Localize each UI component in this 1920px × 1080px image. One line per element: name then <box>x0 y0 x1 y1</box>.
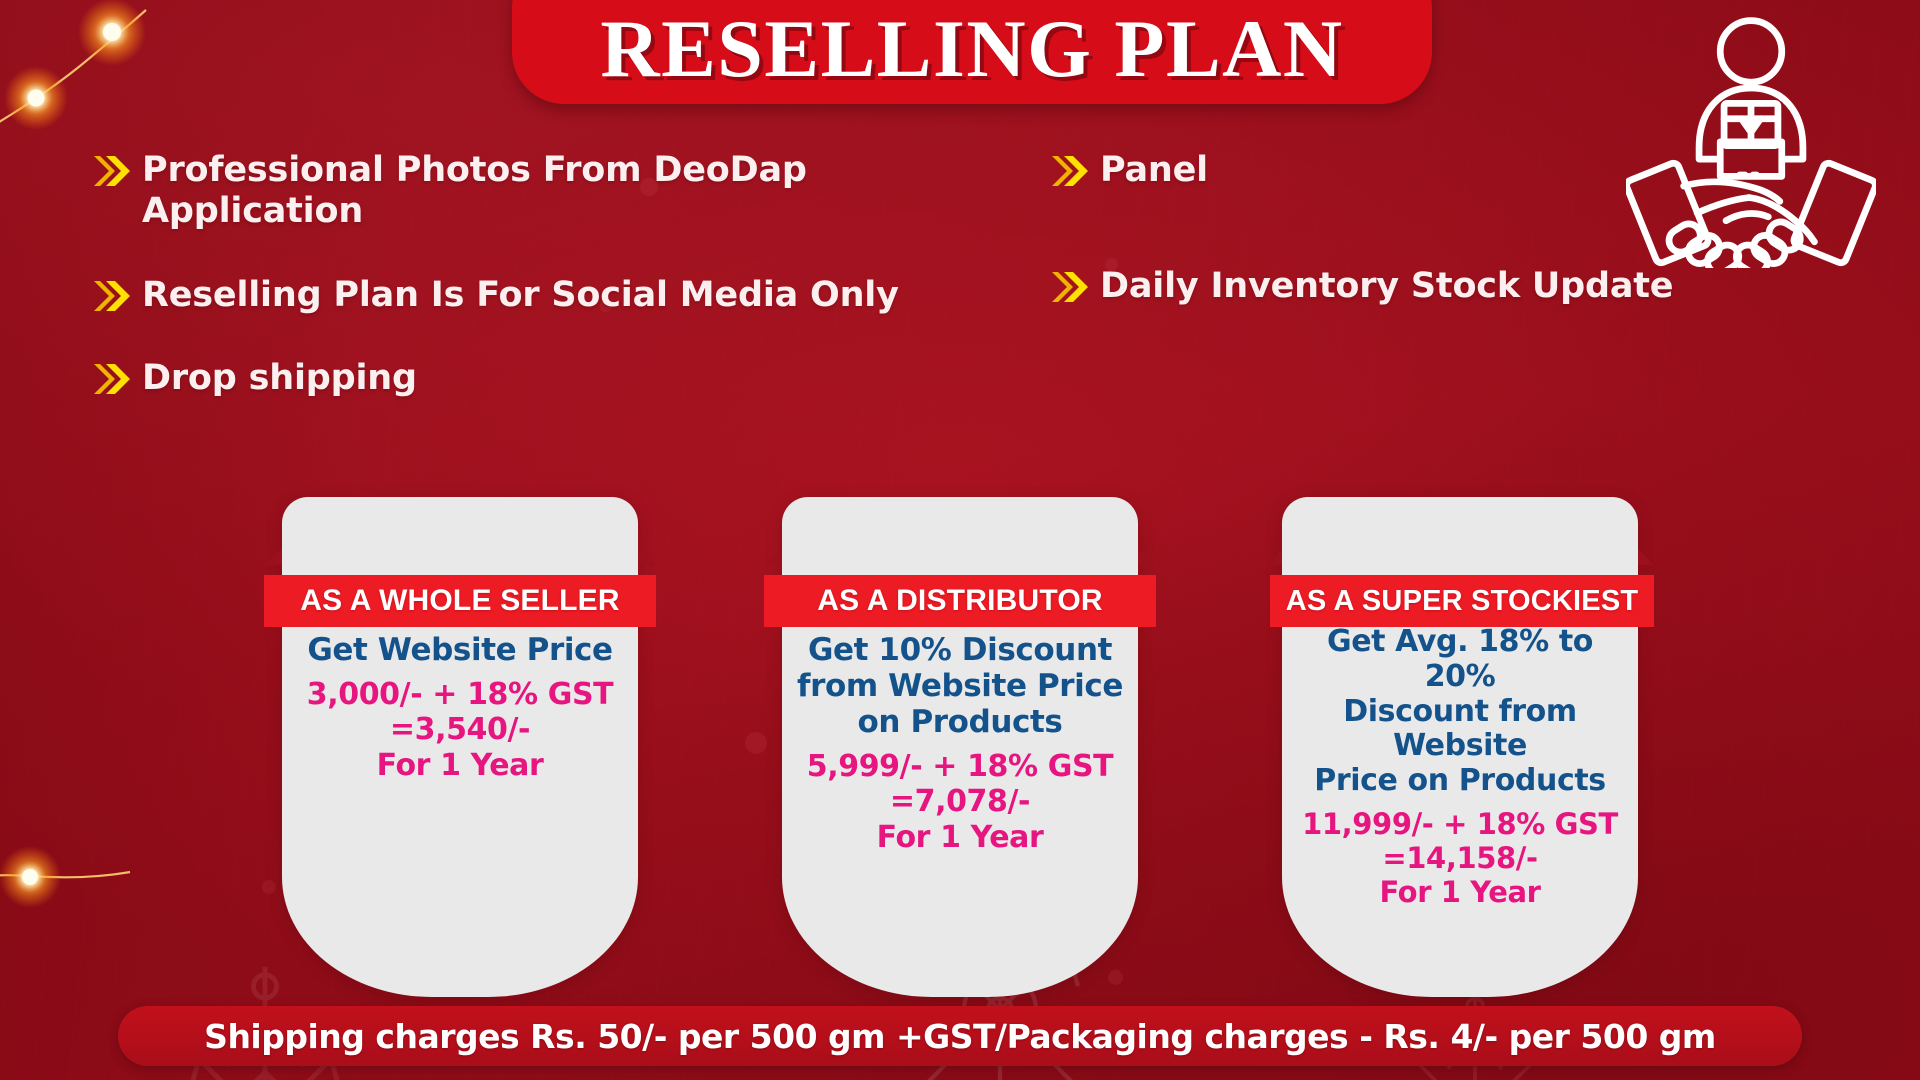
page-title: RESELLING PLAN <box>600 8 1343 90</box>
double-chevron-right-icon <box>1050 269 1090 305</box>
plan-ribbon-label: AS A WHOLE SELLER <box>300 584 620 618</box>
plan-card-super-stockiest[interactable]: AS A SUPER STOCKIEST Get Avg. 18% to 20%… <box>1282 497 1638 997</box>
list-item-label: Reselling Plan Is For Social Media Only <box>142 275 899 316</box>
plan-heading: Get Avg. 18% to 20% Discount from Websit… <box>1296 625 1624 799</box>
plan-ribbon-label: AS A SUPER STOCKIEST <box>1286 585 1639 618</box>
list-item: Drop shipping <box>92 358 1022 399</box>
footer-note-bar: Shipping charges Rs. 50/- per 500 gm +GS… <box>118 1006 1802 1066</box>
ribbon-fold-right <box>638 549 656 565</box>
plan-price: 11,999/- + 18% GST =14,158/- For 1 Year <box>1296 807 1624 910</box>
plan-ribbon: AS A DISTRIBUTOR <box>764 575 1156 627</box>
card-content: Get Website Price 3,000/- + 18% GST =3,5… <box>282 633 638 783</box>
list-item-label: Panel <box>1100 150 1208 191</box>
feature-list-right: Panel Daily Inventory Stock Update <box>1050 150 1840 350</box>
plan-price: 3,000/- + 18% GST =3,540/- For 1 Year <box>296 677 624 783</box>
title-banner: RESELLING PLAN <box>512 0 1432 104</box>
feature-list-left: Professional Photos From DeoDap Applicat… <box>92 150 1022 441</box>
double-chevron-right-icon <box>1050 153 1090 189</box>
ribbon-fold-right <box>1138 549 1156 565</box>
list-item-label: Professional Photos From DeoDap Applicat… <box>142 150 1022 233</box>
plan-ribbon: AS A SUPER STOCKIEST <box>1270 575 1654 627</box>
ribbon-fold-right <box>1638 549 1654 565</box>
ribbon-fold-left <box>764 549 782 565</box>
ribbon-fold-left <box>1270 549 1282 565</box>
list-item: Daily Inventory Stock Update <box>1050 266 1840 307</box>
plan-ribbon-label: AS A DISTRIBUTOR <box>817 584 1102 618</box>
list-item: Panel <box>1050 150 1840 191</box>
double-chevron-right-icon <box>92 278 132 314</box>
ribbon-fold-left <box>264 549 282 565</box>
plan-price: 5,999/- + 18% GST =7,078/- For 1 Year <box>796 749 1124 855</box>
card-content: Get 10% Discount from Website Price on P… <box>782 633 1138 855</box>
list-item-label: Drop shipping <box>142 358 417 399</box>
double-chevron-right-icon <box>92 361 132 397</box>
list-item: Reselling Plan Is For Social Media Only <box>92 275 1022 316</box>
double-chevron-right-icon <box>92 153 132 189</box>
plan-ribbon: AS A WHOLE SELLER <box>264 575 656 627</box>
plan-heading: Get 10% Discount from Website Price on P… <box>796 633 1124 741</box>
list-item: Professional Photos From DeoDap Applicat… <box>92 150 1022 233</box>
plan-card-group: AS A WHOLE SELLER Get Website Price 3,00… <box>0 497 1920 1017</box>
card-content: Get Avg. 18% to 20% Discount from Websit… <box>1282 625 1638 910</box>
list-item-label: Daily Inventory Stock Update <box>1100 266 1673 307</box>
plan-heading: Get Website Price <box>296 633 624 669</box>
plan-card-whole-seller[interactable]: AS A WHOLE SELLER Get Website Price 3,00… <box>282 497 638 997</box>
footer-note-label: Shipping charges Rs. 50/- per 500 gm +GS… <box>204 1017 1716 1056</box>
plan-card-distributor[interactable]: AS A DISTRIBUTOR Get 10% Discount from W… <box>782 497 1138 997</box>
